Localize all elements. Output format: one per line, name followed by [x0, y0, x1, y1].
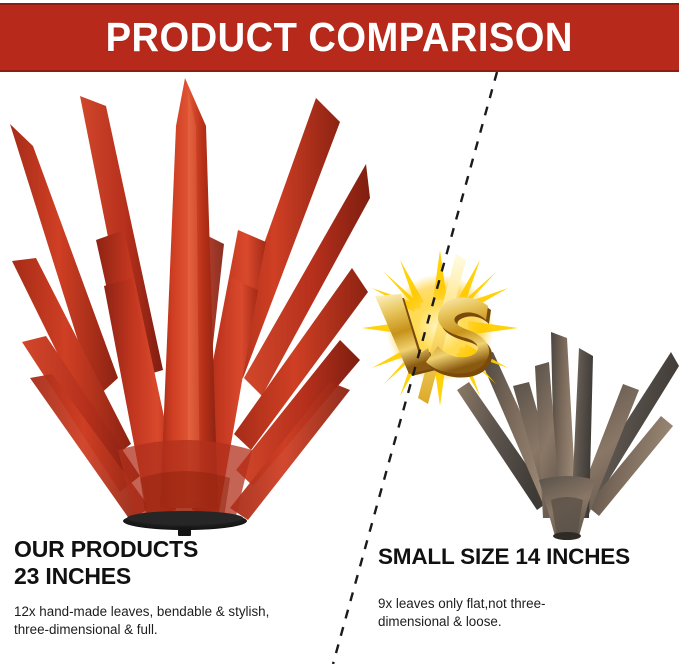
vs-badge [360, 248, 520, 408]
left-caption-block: OUR PRODUCTS 23 INCHES 12x hand-made lea… [14, 536, 344, 639]
comparison-image: PRODUCT COMPARISON [0, 0, 679, 664]
header-banner: PRODUCT COMPARISON [0, 3, 679, 72]
left-product-heading: OUR PRODUCTS 23 INCHES [14, 536, 344, 590]
page-title: PRODUCT COMPARISON [106, 17, 573, 58]
plant-stake [178, 527, 191, 536]
right-product-heading: SMALL SIZE 14 INCHES [378, 544, 670, 570]
left-product-description: 12x hand-made leaves, bendable & stylish… [14, 603, 344, 639]
left-product-image [0, 78, 370, 538]
right-caption-block: SMALL SIZE 14 INCHES 9x leaves only flat… [378, 544, 670, 632]
red-agave-icon [0, 78, 370, 538]
right-product-description: 9x leaves only flat,not three- dimension… [378, 595, 670, 631]
